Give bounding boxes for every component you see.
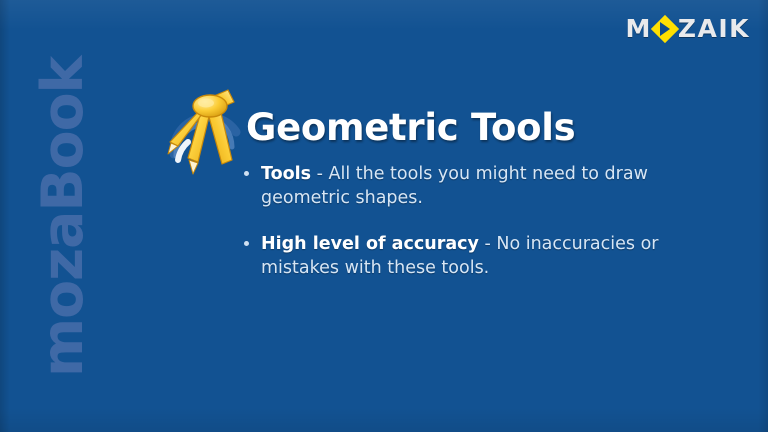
- list-item-lead: Tools: [261, 164, 311, 184]
- product-wordmark-area: mozaBook: [0, 0, 150, 432]
- product-wordmark: mozaBook: [32, 47, 94, 387]
- brand-logo-text-right: ZAIK: [678, 15, 750, 42]
- brand-logo: M ZAIK: [625, 15, 750, 42]
- page-title: Geometric Tools: [246, 106, 575, 149]
- bullet-dot-icon: [244, 241, 249, 246]
- brand-logo-text-left: M: [625, 15, 651, 42]
- bullet-list: Tools - All the tools you might need to …: [240, 162, 710, 302]
- bullet-dot-icon: [244, 171, 249, 176]
- slide-canvas: mozaBook M ZAIK: [0, 0, 768, 432]
- list-item-rest: - All the tools you might need to draw g…: [261, 164, 648, 208]
- list-item: High level of accuracy - No inaccuracies…: [240, 232, 710, 280]
- diamond-arrow-icon: [653, 17, 677, 41]
- compass-geometry-icon: [162, 84, 250, 176]
- list-item-lead: High level of accuracy: [261, 234, 479, 254]
- list-item: Tools - All the tools you might need to …: [240, 162, 710, 210]
